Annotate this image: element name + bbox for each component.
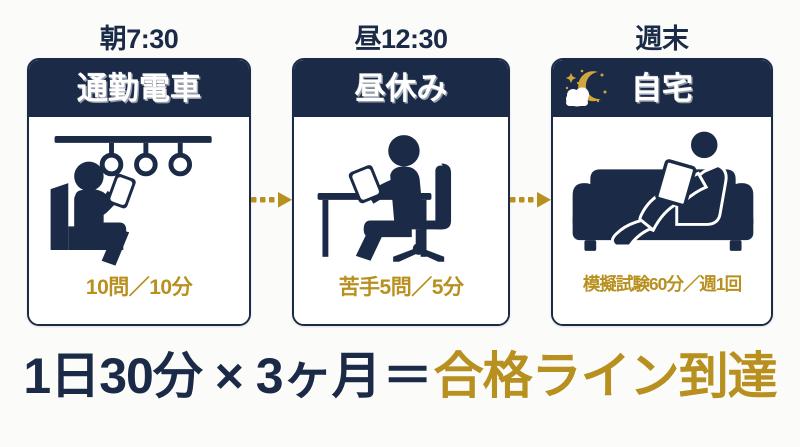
person-sitting-on-train-seat-with-smartphone-icon <box>29 117 249 269</box>
caption-commute-train: 10問／10分 <box>86 271 192 301</box>
infographic-stage: 朝7:30 昼12:30 週末 通勤電車 <box>0 0 800 447</box>
card-header-lunch-break: 昼休み <box>294 60 508 117</box>
card-title-home: 自宅 <box>631 73 693 104</box>
headline-equals-sign: ＝ <box>381 348 434 404</box>
card-header-commute-train: 通勤電車 <box>29 60 249 117</box>
crescent-moon-cloud-stars-icon <box>562 66 610 110</box>
card-header-home: 自宅 <box>553 60 771 117</box>
caption-home: 模擬試験60分／週1回 <box>583 271 741 296</box>
card-body-lunch-break: 苦手5問／5分 <box>294 117 508 325</box>
card-body-commute-train: 10問／10分 <box>29 117 249 325</box>
dotted-arrow-right-icon-2 <box>509 190 555 210</box>
caption-lunch-break: 苦手5問／5分 <box>339 271 464 301</box>
panel-card-commute-train: 通勤電車 <box>27 58 251 326</box>
person-reclining-on-sofa-reading-icon <box>553 117 771 269</box>
headline-part-navy: 1日30分 × 3ヶ月 <box>23 348 380 404</box>
dotted-arrow-right-icon-1 <box>250 190 296 210</box>
headline-part-gold: 合格ライン到達 <box>434 348 777 404</box>
card-body-home: 模擬試験60分／週1回 <box>553 117 771 325</box>
time-label-noon: 昼12:30 <box>292 22 510 56</box>
panel-card-lunch-break: 昼休み <box>292 58 510 326</box>
time-label-weekend: 週末 <box>551 22 773 56</box>
time-label-morning: 朝7:30 <box>27 22 251 56</box>
person-at-desk-in-office-chair-with-tablet-icon <box>294 117 508 269</box>
card-title-commute-train: 通勤電車 <box>77 73 201 104</box>
summary-headline: 1日30分 × 3ヶ月＝合格ライン到達 <box>0 351 800 401</box>
card-title-lunch-break: 昼休み <box>355 73 448 104</box>
panel-card-home: 自宅 <box>551 58 773 326</box>
